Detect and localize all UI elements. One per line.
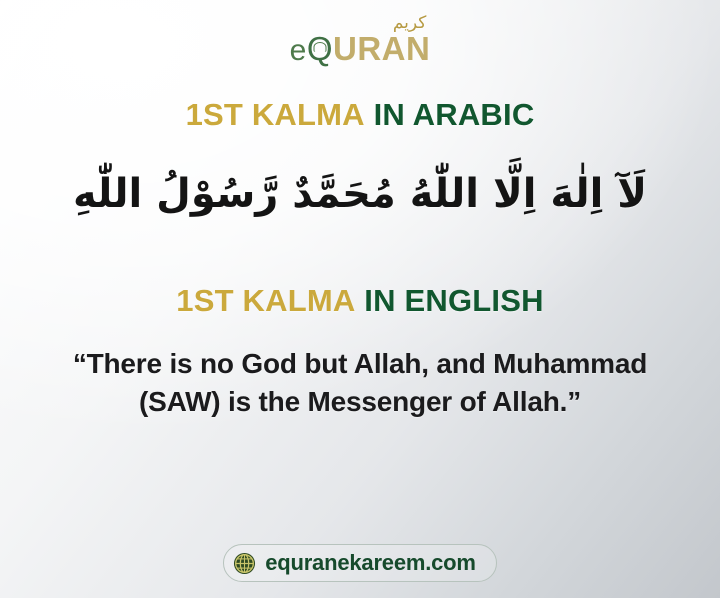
- logo-letter-e: e: [290, 34, 307, 67]
- translation-line-1: “There is no God but Allah, and Muhammad: [15, 345, 705, 383]
- footer: equranekareem.com: [0, 544, 720, 582]
- heading-arabic-gold: 1ST KALMA: [186, 97, 365, 132]
- logo-wordmark: eQURAN: [290, 32, 431, 66]
- heading-english-gold: 1ST KALMA: [176, 283, 355, 318]
- website-url-text: equranekareem.com: [265, 550, 476, 576]
- brand-logo[interactable]: كريم eQURAN: [290, 17, 431, 66]
- arabic-kalma-text: لَآ اِلٰهَ اِلَّا اللّٰهُ مُحَمَّدٌ رَّس…: [30, 163, 690, 225]
- logo-letter-q: Q: [307, 32, 333, 65]
- brand-logo-container: كريم eQURAN: [0, 17, 720, 73]
- logo-arabic-kareem: كريم: [393, 15, 427, 32]
- translation-line-2: (SAW) is the Messenger of Allah.”: [15, 383, 705, 421]
- heading-arabic: 1ST KALMA IN ARABIC: [186, 97, 535, 133]
- heading-english: 1ST KALMA IN ENGLISH: [176, 283, 543, 319]
- english-translation: “There is no God but Allah, and Muhammad…: [15, 345, 705, 421]
- website-url-pill[interactable]: equranekareem.com: [223, 544, 497, 582]
- globe-icon: [233, 552, 256, 575]
- kalma-poster: كريم eQURAN 1ST KALMA IN ARABIC لَآ اِلٰ…: [0, 0, 720, 598]
- logo-uran-text: URAN: [333, 30, 430, 67]
- heading-english-green: IN ENGLISH: [364, 283, 543, 318]
- mosque-dome-icon: [313, 42, 326, 52]
- heading-arabic-green: IN ARABIC: [374, 97, 535, 132]
